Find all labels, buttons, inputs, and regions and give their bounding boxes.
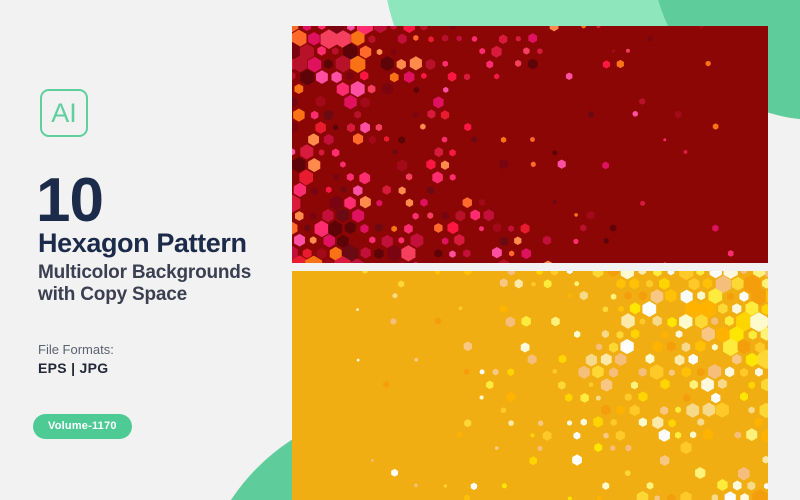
info-column: AI 10 Hexagon Pattern Multicolor Backgro… xyxy=(0,0,292,500)
ai-format-badge: AI xyxy=(40,89,88,137)
ai-badge-label: AI xyxy=(51,100,77,127)
page-subtitle: Multicolor Backgrounds with Copy Space xyxy=(38,262,251,307)
yellow-hexagon-pattern xyxy=(292,271,768,500)
red-hexagon-pattern xyxy=(292,26,768,263)
page-subtitle-line2: with Copy Space xyxy=(38,284,251,306)
item-count: 10 xyxy=(36,170,103,232)
poster-canvas: AI 10 Hexagon Pattern Multicolor Backgro… xyxy=(0,0,800,500)
file-formats-value: EPS | JPG xyxy=(38,360,108,376)
volume-badge: Volume-1170 xyxy=(33,414,132,439)
yellow-hexagon-preview xyxy=(292,271,768,500)
page-subtitle-line1: Multicolor Backgrounds xyxy=(38,262,251,284)
page-title: Hexagon Pattern xyxy=(38,230,247,257)
file-formats-label: File Formats: xyxy=(38,342,114,357)
red-hexagon-preview xyxy=(292,26,768,263)
